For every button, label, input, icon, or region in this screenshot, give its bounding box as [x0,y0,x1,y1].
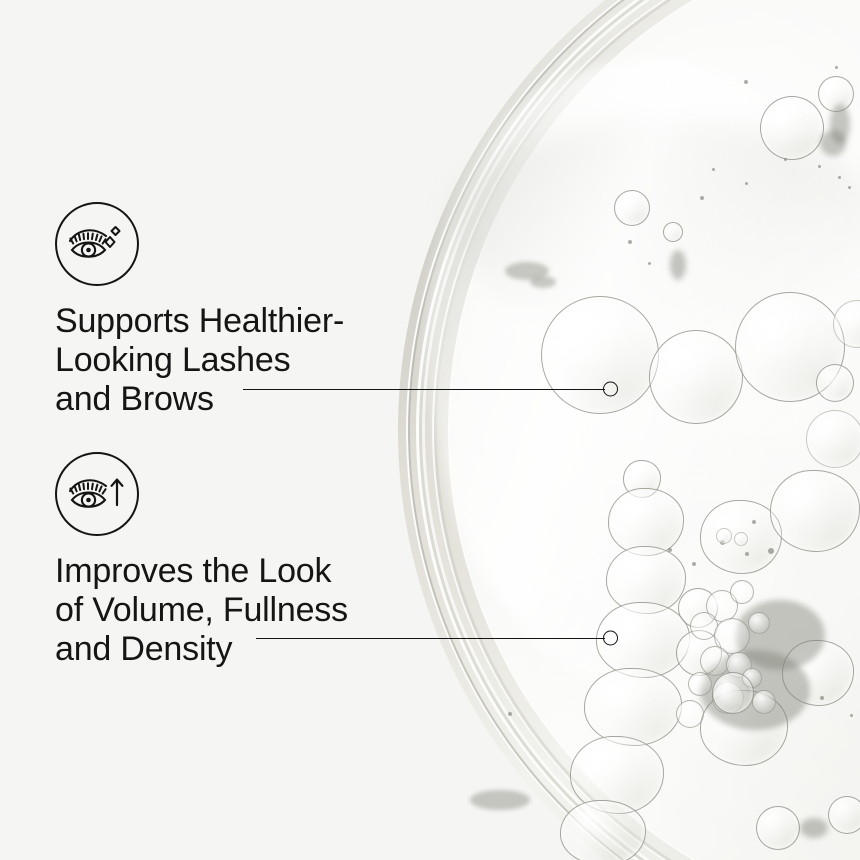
speck [692,562,696,566]
bubble [734,532,748,546]
speck [838,176,841,179]
gel-smudge [530,276,556,288]
bubble [806,410,860,468]
bubble [716,528,732,544]
eye-lashes-arrow-up-icon [55,452,139,536]
bubble [614,190,650,226]
speck [648,262,651,265]
bubble [756,806,800,850]
benefit-text-1: Supports Healthier- Looking Lashes and B… [55,302,344,419]
foam-bubble [688,672,712,696]
bubble [584,668,682,746]
bubble [816,364,854,402]
bubble [770,470,860,552]
speck [744,80,748,84]
connector-line-2-stroke [256,638,605,639]
speck [668,548,672,552]
benefit-text-2: Improves the Look of Volume, Fullness an… [55,552,348,669]
gel-blob [800,818,828,838]
speck [784,158,787,161]
speck [850,714,853,717]
gel-blob [670,250,686,280]
speck [745,182,748,185]
product-photo [0,0,860,860]
foam-bubble [748,612,770,634]
gel-smudge [470,790,530,810]
speck [508,712,512,716]
eye-lashes-sparkle-icon [55,202,139,286]
connector-endpoint-1 [603,382,618,397]
connector-endpoint-2 [603,631,618,646]
bubble [712,672,754,714]
speck [745,552,749,556]
speck [820,696,824,700]
speck [818,165,821,168]
bubble [760,96,824,160]
bubble [560,800,646,860]
speck [768,548,774,554]
speck [752,520,756,524]
bubble [663,222,683,242]
connector-line-1 [243,382,623,396]
connector-line-1-stroke [243,389,605,390]
speck [700,196,704,200]
connector-line-2 [256,631,626,645]
bubble [649,330,743,424]
infographic-canvas: Supports Healthier- Looking Lashes and B… [0,0,860,860]
speck [848,186,851,189]
speck [835,66,838,69]
bubble [828,796,860,834]
foam-bubble [730,580,754,604]
bubble [541,296,659,414]
gel-blob [820,130,846,156]
foam-bubble [752,690,776,714]
speck [628,240,632,244]
foam-bubble [676,700,704,728]
speck [712,168,715,171]
